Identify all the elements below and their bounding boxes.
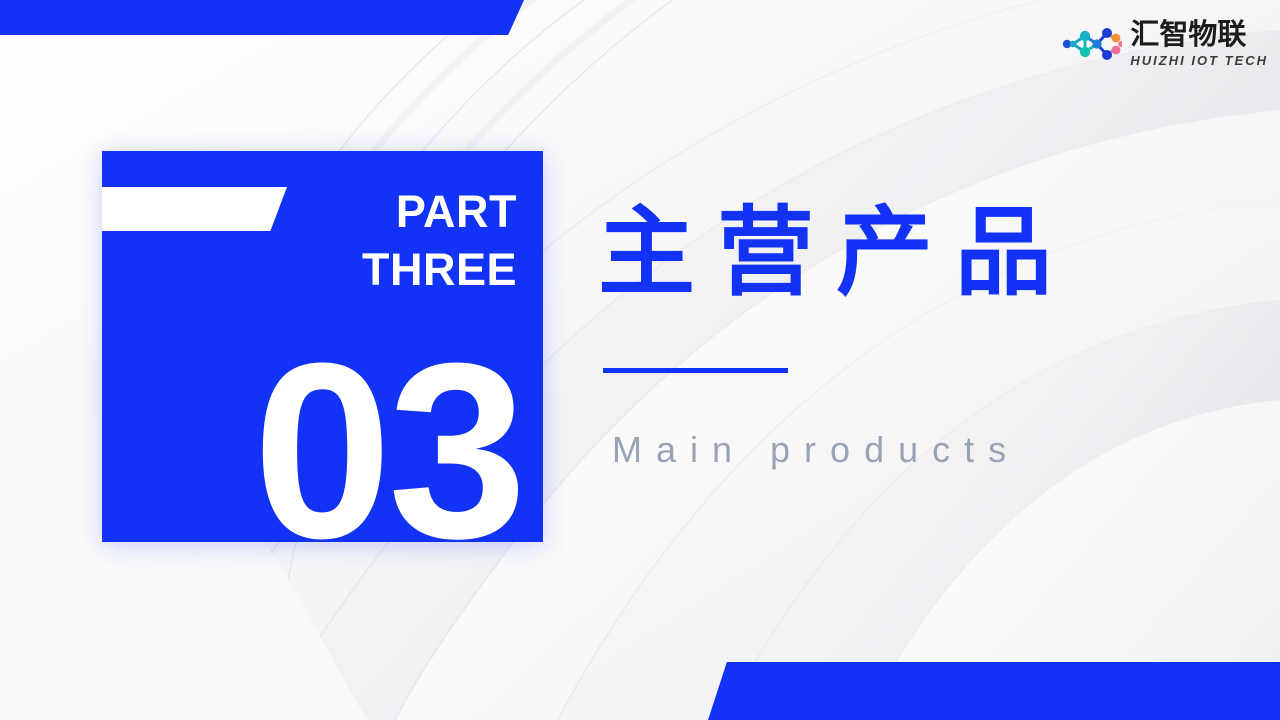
- company-logo: 汇智物联 HUIZHI IOT TECH: [1060, 20, 1268, 67]
- part-label: PART THREE: [177, 183, 517, 298]
- molecule-network-icon: [1060, 21, 1122, 67]
- part-label-line-1: PART: [177, 183, 517, 241]
- title-underline-rule: [603, 368, 788, 373]
- part-label-line-2: THREE: [177, 241, 517, 299]
- section-number-panel: PART THREE 03: [102, 151, 543, 542]
- slide-canvas: PART THREE 03 主营产品 Main products: [0, 0, 1280, 720]
- section-number: 03: [102, 326, 523, 576]
- logo-name-en: HUIZHI IOT TECH: [1130, 54, 1268, 67]
- top-left-accent-strip: [0, 0, 524, 35]
- bottom-right-accent-strip: [708, 662, 1280, 720]
- logo-name-cn: 汇智物联: [1130, 20, 1268, 49]
- page-title-zh: 主营产品: [598, 204, 1074, 301]
- page-subtitle-en: Main products: [612, 432, 1020, 468]
- logo-wordmark: 汇智物联 HUIZHI IOT TECH: [1130, 20, 1268, 67]
